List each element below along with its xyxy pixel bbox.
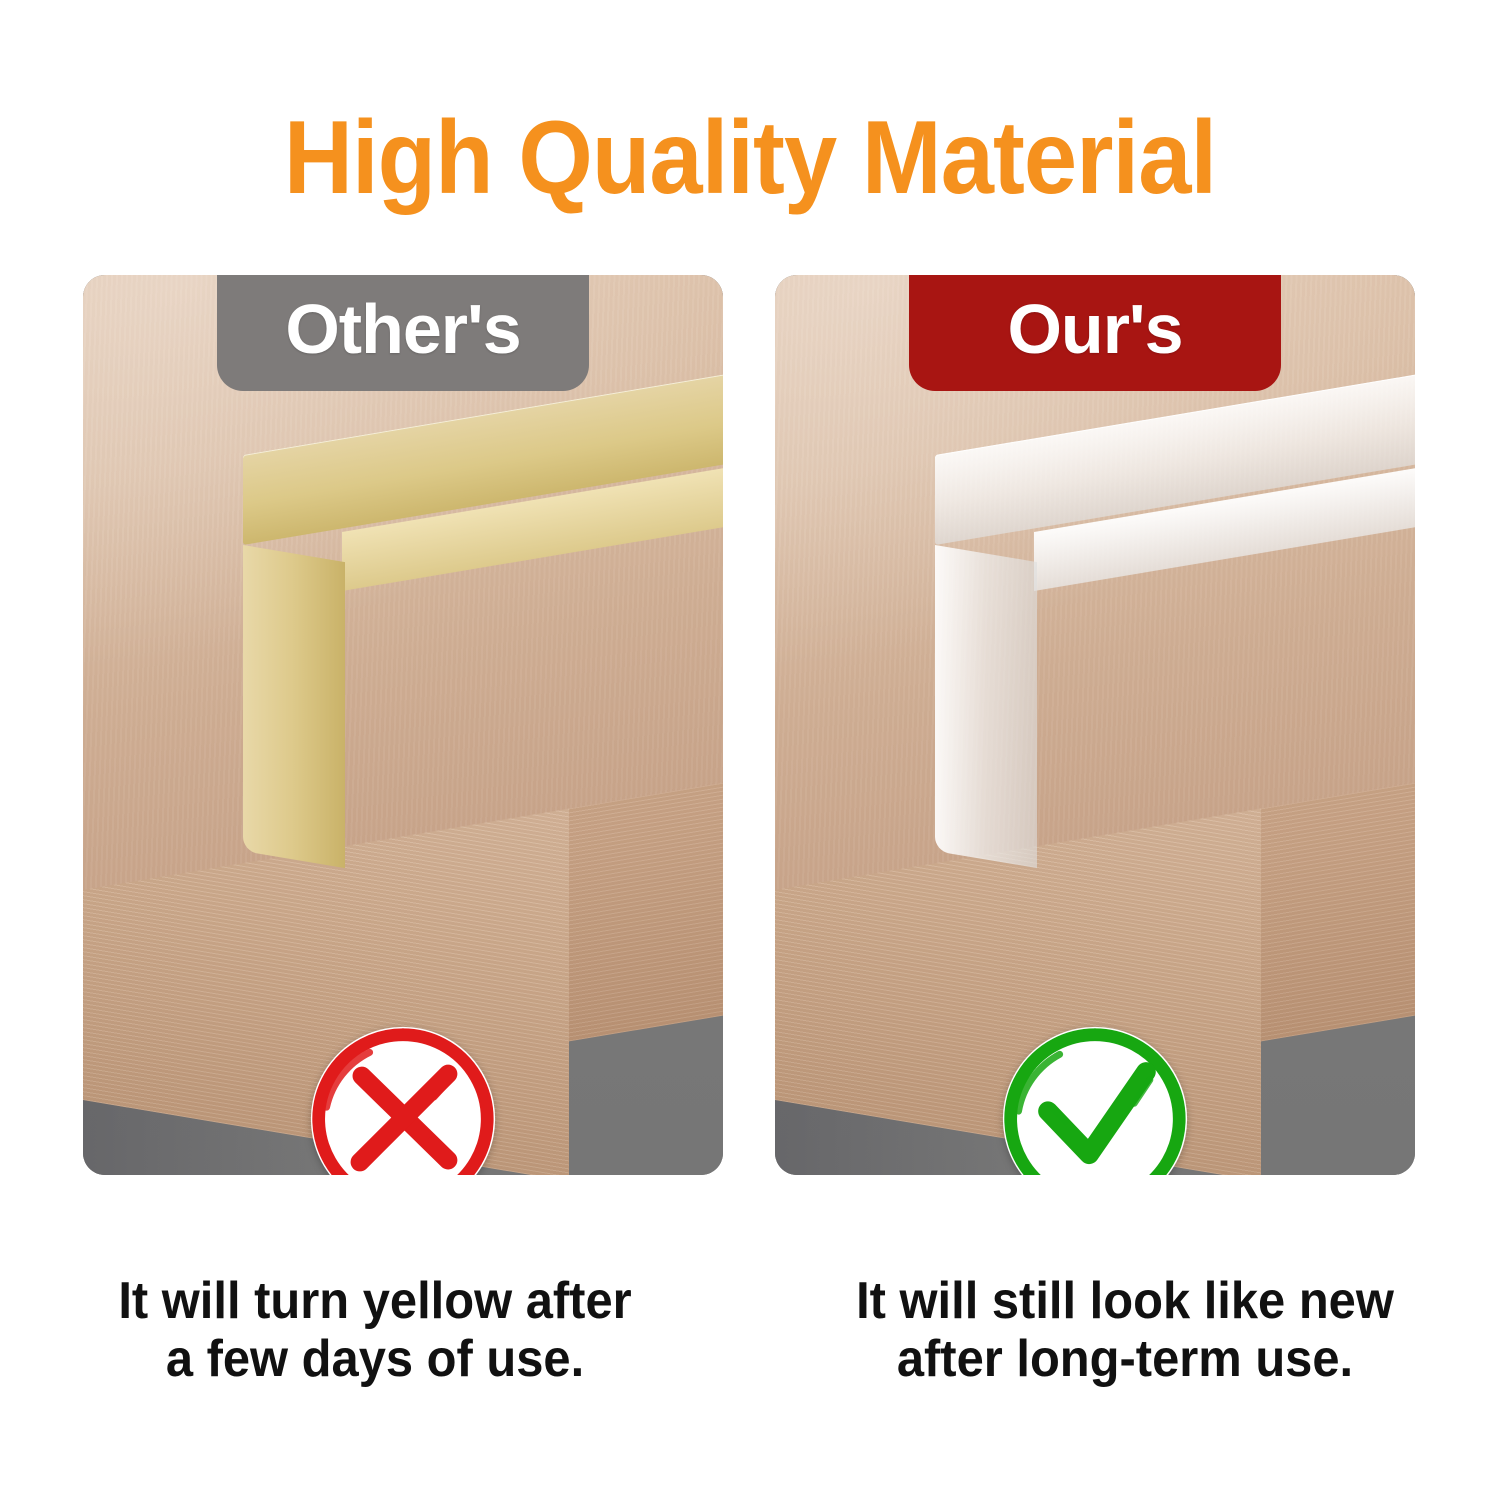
comparison-panel-ours: Our's [775, 275, 1415, 1175]
badge-ours: Our's [909, 275, 1281, 391]
edge-guard-front-strip [935, 545, 1037, 868]
caption-other-line1: It will turn yellow after [23, 1272, 728, 1330]
caption-ours-line1: It will still look like new [773, 1272, 1478, 1330]
caption-ours: It will still look like new after long-t… [773, 1272, 1478, 1388]
cross-icon [305, 1021, 501, 1175]
comparison-row: Other's [83, 275, 1415, 1175]
page-title: High Quality Material [60, 104, 1440, 213]
captions-row: It will turn yellow after a few days of … [0, 1272, 1500, 1388]
badge-other: Other's [217, 275, 589, 391]
caption-other: It will turn yellow after a few days of … [23, 1272, 728, 1388]
edge-guard-front-strip [243, 545, 345, 868]
caption-ours-line2: after long-term use. [773, 1330, 1478, 1388]
check-icon [997, 1021, 1193, 1175]
caption-other-line2: a few days of use. [23, 1330, 728, 1388]
comparison-panel-other: Other's [83, 275, 723, 1175]
